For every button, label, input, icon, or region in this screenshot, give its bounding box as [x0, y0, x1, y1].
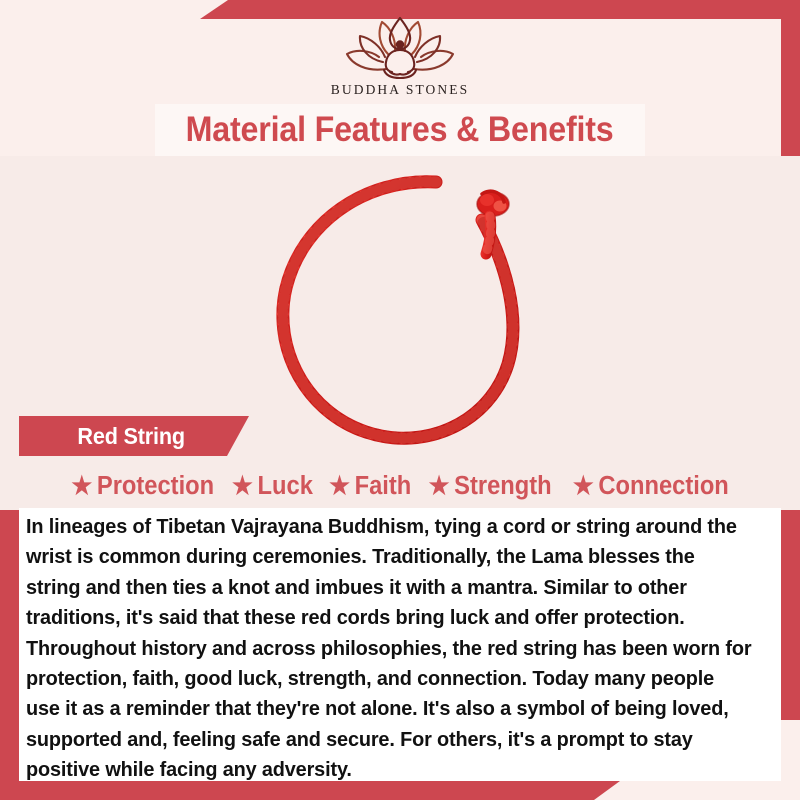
product-photo: [0, 156, 800, 510]
page-title: Material Features & Benefits: [186, 110, 614, 150]
title-banner: Material Features & Benefits: [155, 104, 645, 156]
product-label: Red String: [77, 423, 184, 450]
description-panel: In lineages of Tibetan Vajrayana Buddhis…: [19, 508, 781, 781]
benefit-item-faith: ★ Faith: [325, 472, 416, 501]
product-label-banner: Red String: [19, 416, 249, 456]
brand-name: BUDDHA STONES: [300, 82, 500, 98]
benefit-label: Faith: [355, 472, 412, 501]
brand-header: BUDDHA STONES: [0, 0, 800, 105]
brand-logo: BUDDHA STONES: [300, 14, 500, 98]
infographic-page: BUDDHA STONES Material Features & Benefi…: [0, 0, 800, 800]
benefit-label: Luck: [258, 472, 313, 501]
star-icon: ★: [232, 474, 253, 499]
benefit-label: Protection: [97, 472, 214, 501]
star-icon: ★: [573, 474, 594, 499]
lotus-meditation-icon: [342, 14, 458, 80]
star-icon: ★: [429, 474, 450, 499]
star-icon: ★: [329, 474, 350, 499]
description-text: In lineages of Tibetan Vajrayana Buddhis…: [26, 512, 752, 786]
benefit-item-protection: ★ Protection: [66, 472, 218, 501]
benefit-label: Connection: [598, 472, 728, 501]
red-string-bracelet-image: [246, 164, 586, 464]
benefit-item-connection: ★ Connection: [568, 472, 733, 501]
benefits-list: ★ Protection ★ Luck ★ Faith ★ Strength ★…: [19, 466, 781, 506]
benefit-item-luck: ★ Luck: [228, 472, 318, 501]
star-icon: ★: [71, 474, 92, 499]
benefit-label: Strength: [455, 472, 552, 501]
benefit-item-strength: ★ Strength: [424, 472, 556, 501]
